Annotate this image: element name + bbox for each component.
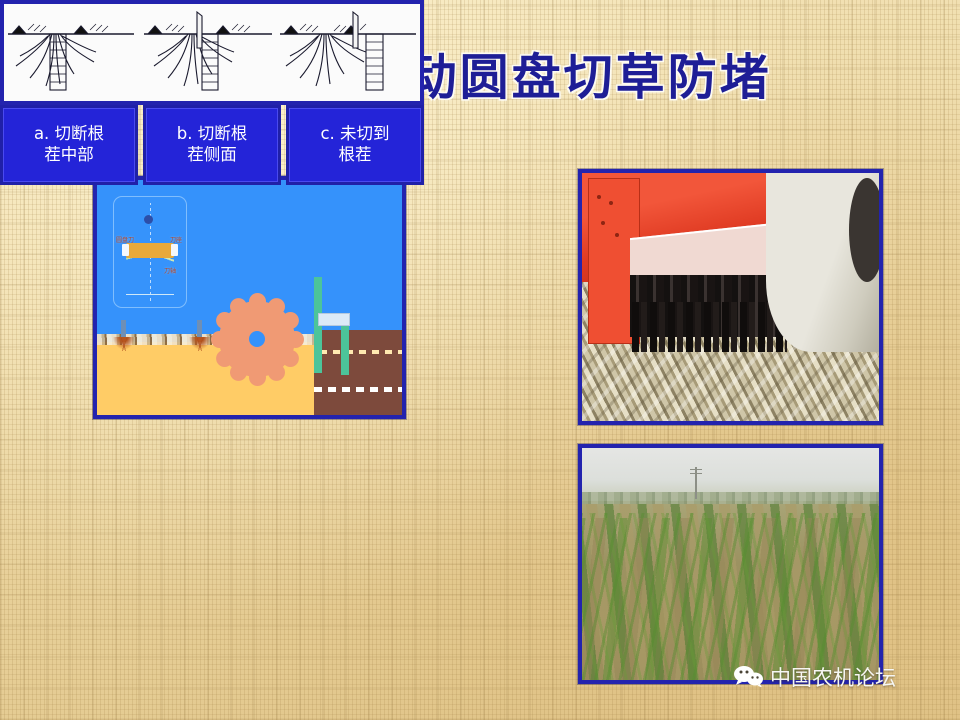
caption-a-line1: a. 切断根 [34,124,104,145]
disc-tooth [287,331,304,348]
seedling-texture [582,513,879,680]
caption-box-c[interactable]: c. 未切到 根茬 [286,105,424,185]
inset-baseline [126,294,174,295]
schematic-scene: 圆盘刀 刀座 刀轴 [97,180,402,415]
caption-c-line2: 根茬 [320,145,389,166]
seed-row-marks-upper [320,350,402,354]
tire-arc-shadow [849,178,883,282]
caption-box-b[interactable]: b. 切断根 茬侧面 [143,105,281,185]
caption-box-a[interactable]: a. 切断根 茬中部 [0,105,138,185]
disc-tooth [268,364,285,381]
disc-tooth [281,312,298,329]
disc-tooth [211,331,228,348]
disc-tooth [249,369,266,386]
disc-tooth [281,350,298,367]
watermark-text: 中国农机论坛 [770,668,896,689]
disc-tooth [230,364,247,381]
tree-line-horizon [582,492,879,504]
schematic-illustration-panel: 圆盘刀 刀座 刀轴 [93,176,406,419]
tilled-soil-block [314,330,402,415]
root-cutting-captions: a. 切断根 茬中部 b. 切断根 茬侧面 c. 未切到 根茬 [0,105,424,185]
root-stubble-middle [187,322,213,352]
wechat-icon [733,665,763,691]
inset-cap-left [122,244,129,256]
root-cutting-drawings-panel [0,0,424,105]
seeder-bracket [318,313,350,326]
watermark: 中国农机论坛 [733,665,896,691]
seeder-post-short [341,323,349,375]
disc-tooth [249,293,266,310]
root-cutting-svg [4,4,420,101]
root-icon [187,337,213,352]
inset-label-blade-shaft: 刀轴 [164,269,176,275]
caption-c-line1: c. 未切到 [320,124,389,145]
disc-geometry-inset-diagram: 圆盘刀 刀座 刀轴 [113,196,187,308]
inset-label-disc-blade: 圆盘刀 [116,238,134,244]
disc-blades [632,302,786,352]
root-cutting-diagram-group: a. 切断根 茬中部 b. 切断根 茬侧面 c. 未切到 根茬 [0,0,424,185]
caption-a-line2: 茬中部 [34,145,104,166]
disc-tooth [230,298,247,315]
slide-canvas: ③斜置驱动圆盘切草防堵 [0,0,960,720]
inset-cap-right [171,244,178,256]
caption-b-line2: 茬侧面 [177,145,247,166]
inset-label-blade-seat: 刀座 [170,238,182,244]
root-stubble-left [111,322,137,352]
inset-disc-hub [126,243,174,258]
utility-pole-icon [695,467,697,499]
seed-row-marks [314,387,402,392]
root-icon [111,337,137,352]
machine-photo-panel [578,169,883,425]
inset-pivot-knob [144,215,153,224]
wechat-icon-svg [733,665,763,687]
cutting-disc-icon [219,301,295,377]
disc-tooth [216,312,233,329]
disc-tooth [268,298,285,315]
caption-b-line1: b. 切断根 [177,124,247,145]
field-photo-panel [578,444,883,684]
disc-tooth [216,350,233,367]
